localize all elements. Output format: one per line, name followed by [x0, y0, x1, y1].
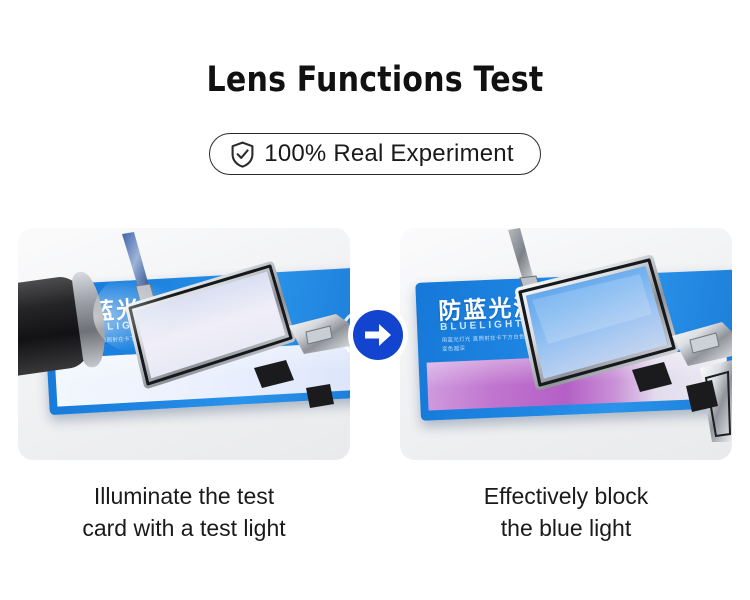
badge-container: 100% Real Experiment — [0, 133, 750, 175]
comparison-row: 防蓝光测试卡 BLUELIGHT PROTEC 用蓝光灯光 直照射在卡下方白色方… — [0, 228, 750, 460]
flashlight — [18, 261, 127, 388]
caption-line: card with a test light — [18, 512, 350, 544]
caption-line: Effectively block — [400, 480, 732, 512]
caption-line: Illuminate the test — [18, 480, 350, 512]
photo-before-image: 防蓝光测试卡 BLUELIGHT PROTEC 用蓝光灯光 直照射在卡下方白色方… — [18, 228, 350, 460]
captions-row: Illuminate the test card with a test lig… — [0, 480, 750, 560]
caption-after: Effectively block the blue light — [400, 480, 732, 544]
reactive-strip-purple — [427, 350, 729, 411]
test-card-after: 防蓝光测试卡 BLUELIGHT PROTEC 用蓝光灯光 直照射在卡下方白色方… — [415, 269, 732, 421]
arrow-right-icon — [363, 322, 393, 348]
test-card-subtext: 用蓝光灯光 直照射在卡下方白色方块d 蓝光越强，变色越深 — [442, 331, 573, 354]
page-title: Lens Functions Test — [53, 60, 698, 100]
caption-line: the blue light — [400, 512, 732, 544]
caption-before: Illuminate the test card with a test lig… — [18, 480, 350, 544]
photo-panel-before: 防蓝光测试卡 BLUELIGHT PROTEC 用蓝光灯光 直照射在卡下方白色方… — [18, 228, 350, 460]
photo-after-image: 防蓝光测试卡 BLUELIGHT PROTEC 用蓝光灯光 直照射在卡下方白色方… — [400, 228, 732, 460]
photo-panel-after: 防蓝光测试卡 BLUELIGHT PROTEC 用蓝光灯光 直照射在卡下方白色方… — [400, 228, 732, 460]
real-experiment-badge: 100% Real Experiment — [209, 133, 540, 175]
shield-check-icon — [230, 141, 255, 168]
arrow-right-badge — [353, 310, 403, 360]
badge-label: 100% Real Experiment — [264, 140, 513, 168]
strip-sheen — [427, 350, 729, 411]
